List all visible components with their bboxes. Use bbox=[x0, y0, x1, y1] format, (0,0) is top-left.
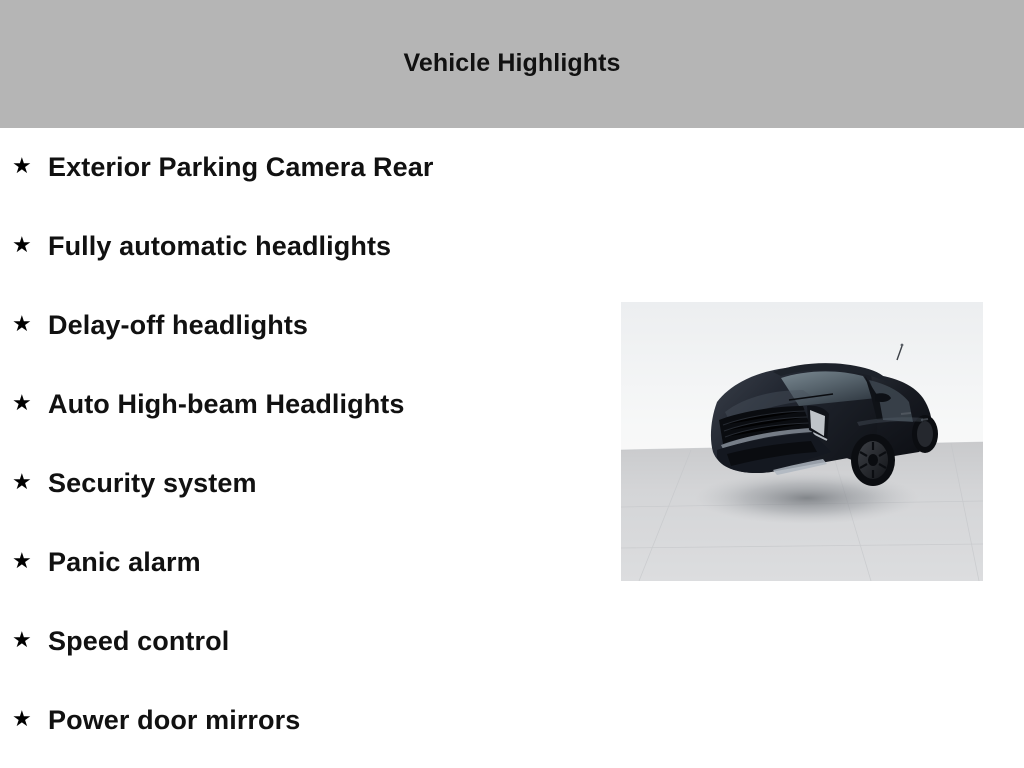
highlight-label: Delay-off headlights bbox=[48, 311, 308, 341]
vehicle-image bbox=[621, 302, 983, 581]
highlight-label: Auto High-beam Headlights bbox=[48, 390, 405, 420]
star-icon: ★ bbox=[12, 155, 48, 177]
highlight-label: Speed control bbox=[48, 627, 229, 657]
list-item: ★ Auto High-beam Headlights bbox=[0, 365, 600, 444]
list-item: ★ Security system bbox=[0, 444, 600, 523]
highlight-label: Panic alarm bbox=[48, 548, 201, 578]
list-item: ★ Speed control bbox=[0, 602, 600, 681]
highlight-label: Fully automatic headlights bbox=[48, 232, 391, 262]
highlight-label: Exterior Parking Camera Rear bbox=[48, 153, 433, 183]
star-icon: ★ bbox=[12, 313, 48, 335]
list-item: ★ Exterior Parking Camera Rear bbox=[0, 128, 600, 207]
list-item: ★ Power door mirrors bbox=[0, 681, 600, 760]
highlight-label: Security system bbox=[48, 469, 257, 499]
star-icon: ★ bbox=[12, 471, 48, 493]
star-icon: ★ bbox=[12, 234, 48, 256]
page-title: Vehicle Highlights bbox=[403, 51, 620, 76]
star-icon: ★ bbox=[12, 629, 48, 651]
list-item: ★ Fully automatic headlights bbox=[0, 207, 600, 286]
list-item: ★ Panic alarm bbox=[0, 523, 600, 602]
page-header: Vehicle Highlights bbox=[0, 0, 1024, 128]
vehicle-highlights-list: ★ Exterior Parking Camera Rear ★ Fully a… bbox=[0, 128, 600, 760]
star-icon: ★ bbox=[12, 392, 48, 414]
list-item: ★ Delay-off headlights bbox=[0, 286, 600, 365]
star-icon: ★ bbox=[12, 708, 48, 730]
star-icon: ★ bbox=[12, 550, 48, 572]
highlight-label: Power door mirrors bbox=[48, 706, 300, 736]
vehicle-illustration bbox=[621, 302, 983, 581]
